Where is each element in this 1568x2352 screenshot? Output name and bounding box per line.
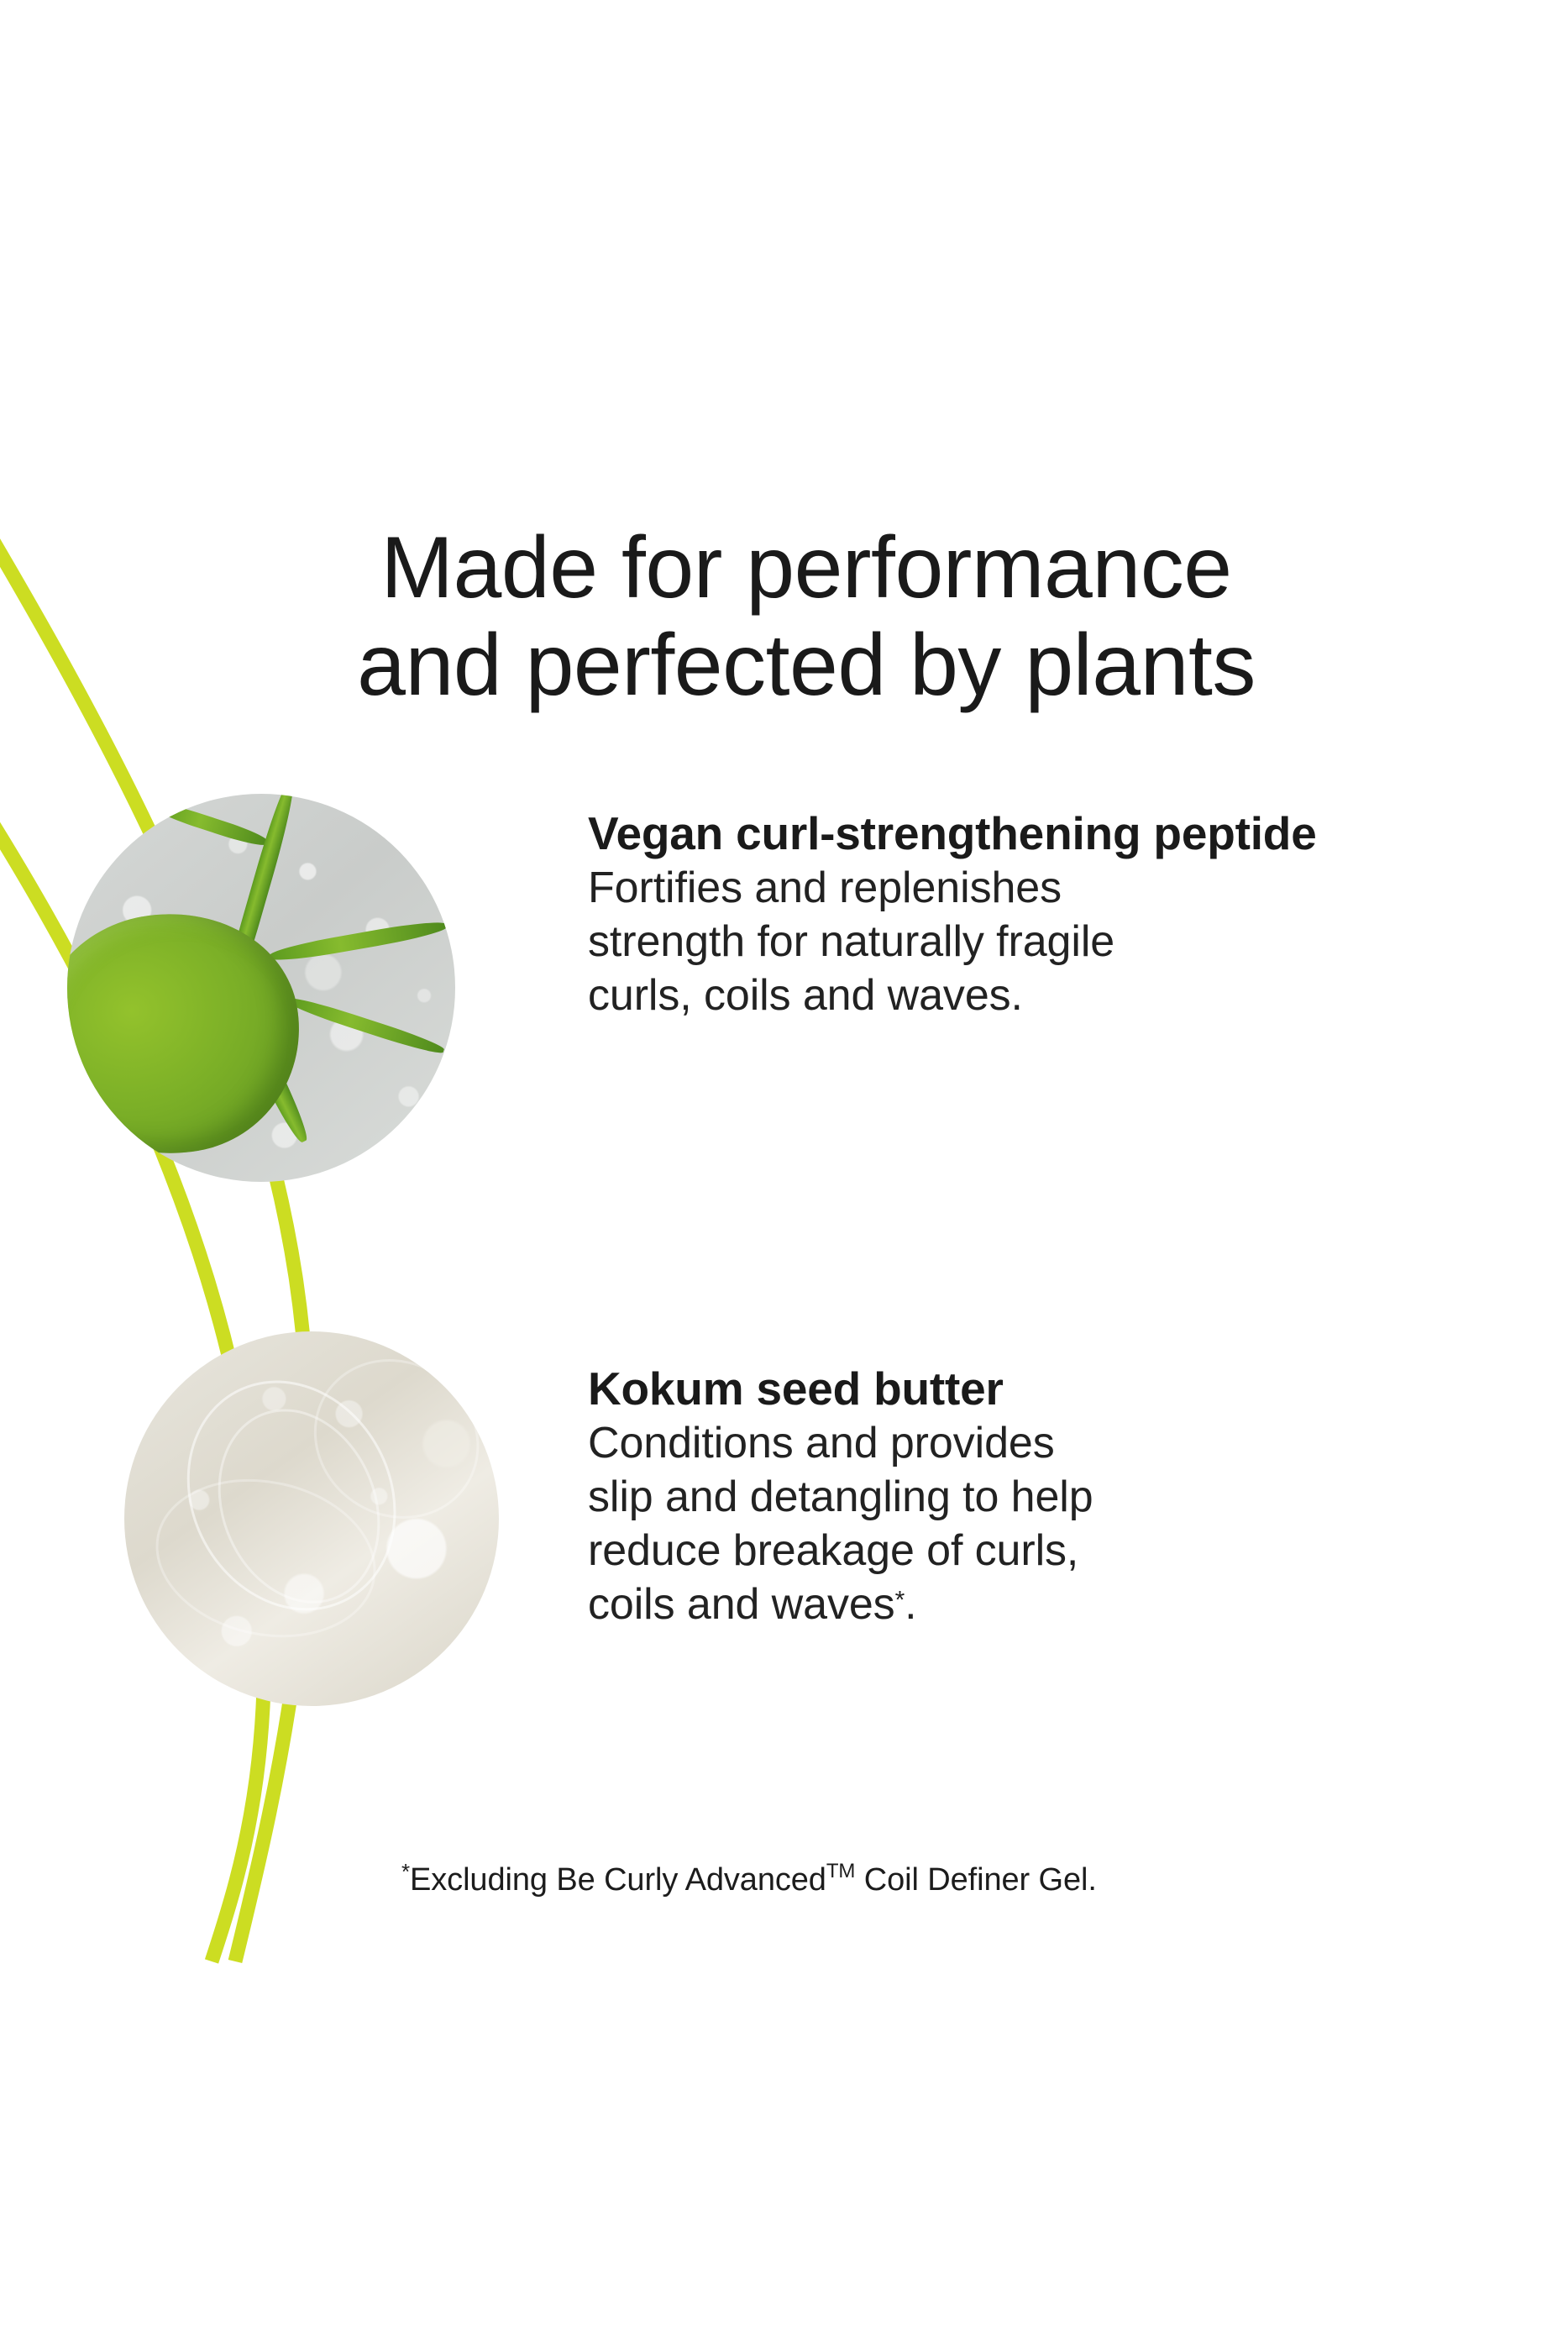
trademark-icon: TM (826, 1860, 855, 1882)
footnote-asterisk: * (401, 1859, 410, 1884)
leaf-blade-icon (153, 800, 268, 849)
gel-swatch-icon (67, 794, 455, 1182)
feature-title: Vegan curl-strengthening peptide (588, 806, 1348, 860)
headline-line-1: Made for performance (252, 519, 1361, 617)
feature-body-line: Conditions and provides (588, 1419, 1055, 1467)
feature-image-kokum-seed-butter (124, 1331, 499, 1706)
feature-body-line: curls, coils and waves. (588, 971, 1023, 1020)
footnote-text-after-trademark: Coil Definer Gel. (855, 1862, 1097, 1898)
feature-body-period: . (905, 1580, 916, 1629)
feature-body: Fortifies and replenishes strength for n… (588, 862, 1348, 1023)
feature-body-line: strength for naturally fragile (588, 917, 1114, 966)
feature-body-line: slip and detangling to help (588, 1473, 1093, 1521)
feature-body: Conditions and provides slip and detangl… (588, 1417, 1348, 1632)
footnote: *Excluding Be Curly AdvancedTM Coil Defi… (401, 1861, 1097, 1900)
page-title: Made for performance and perfected by pl… (252, 519, 1361, 715)
leaf-icon (67, 893, 319, 1176)
curve-line-outer (0, 496, 309, 1961)
feature-text-kokum-seed-butter: Kokum seed butter Conditions and provide… (588, 1362, 1348, 1632)
promo-page: Made for performance and perfected by pl… (0, 0, 1568, 2352)
feature-body-line: Fortifies and replenishes (588, 864, 1062, 912)
butter-swatch-icon (124, 1331, 499, 1706)
feature-body-line: coils and waves (588, 1580, 895, 1629)
feature-text-vegan-peptide: Vegan curl-strengthening peptide Fortifi… (588, 806, 1348, 1023)
leaf-blade-icon (269, 918, 448, 965)
feature-title: Kokum seed butter (588, 1362, 1348, 1415)
headline-line-2: and perfected by plants (252, 617, 1361, 714)
feature-image-vegan-peptide (67, 794, 455, 1182)
leaf-blade-icon (286, 994, 445, 1057)
footnote-marker: * (895, 1587, 905, 1614)
footnote-text-before-trademark: Excluding Be Curly Advanced (410, 1862, 826, 1898)
feature-body-line: reduce breakage of curls, (588, 1526, 1078, 1575)
